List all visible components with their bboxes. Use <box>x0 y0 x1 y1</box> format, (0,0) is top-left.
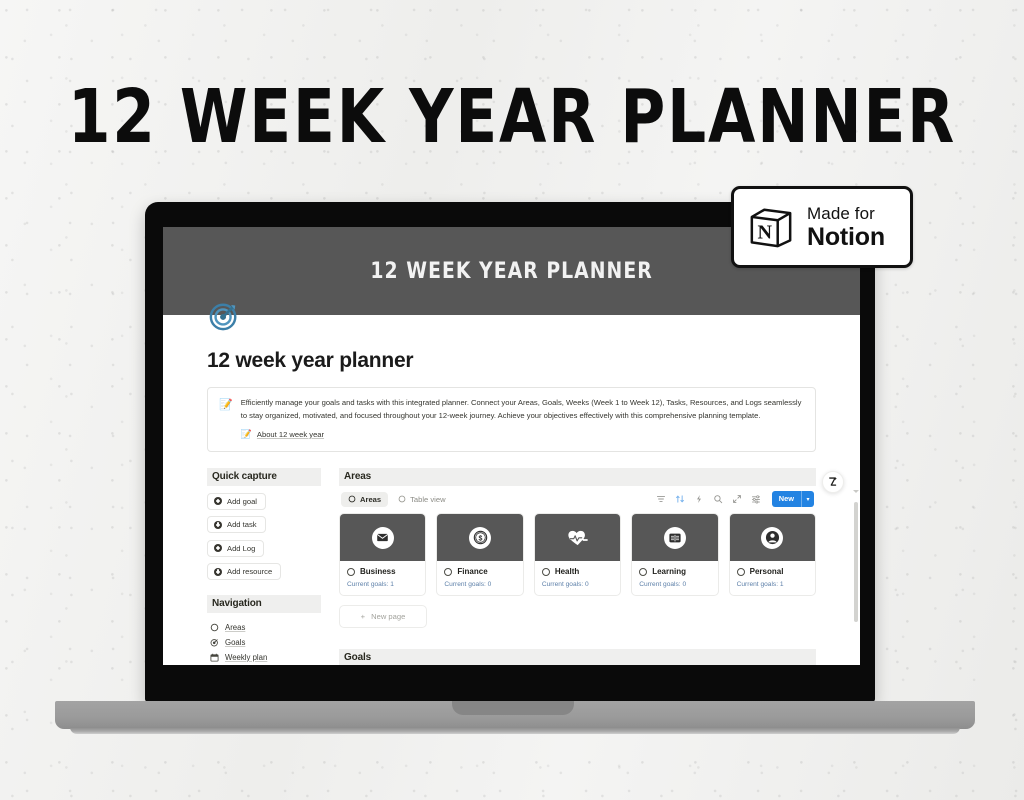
badge-notion-label: Notion <box>807 225 885 250</box>
plus-circle-icon <box>214 521 222 529</box>
scrollbar[interactable] <box>854 502 858 657</box>
badge-text: Made for Notion <box>807 205 885 250</box>
body-columns: Quick capture Add goal Add task <box>207 468 816 665</box>
areas-view-bar: Areas Table view <box>339 486 816 513</box>
coin-dollar-icon: $ <box>469 527 491 549</box>
scroll-caret-icon <box>853 490 859 493</box>
plus-circle-icon <box>214 497 222 505</box>
area-card-personal[interactable]: Personal Current goals: 1 <box>729 513 816 596</box>
card-meta: Current goals: 0 <box>444 581 515 588</box>
circle-icon <box>398 495 406 503</box>
notion-document: 12 week year planner 📝 Efficiently manag… <box>163 315 860 665</box>
card-cover <box>730 514 815 561</box>
plus-icon: + <box>361 612 365 621</box>
settings-icon[interactable] <box>751 494 761 504</box>
card-title: Finance <box>457 567 487 576</box>
circle-icon <box>348 495 356 503</box>
card-title-row: Health <box>542 567 613 576</box>
sidebar-item-label: Areas <box>225 623 245 632</box>
quick-capture-list: Add goal Add task Add Log <box>207 486 321 586</box>
intro-callout: 📝 Efficiently manage your goals and task… <box>207 387 816 452</box>
tab-areas[interactable]: Areas <box>341 492 388 507</box>
card-body: Personal Current goals: 1 <box>730 561 815 595</box>
card-title: Learning <box>652 567 686 576</box>
card-meta: Current goals: 0 <box>542 581 613 588</box>
areas-new-button[interactable]: New ▾ <box>772 491 814 507</box>
quick-capture-heading: Quick capture <box>207 468 321 486</box>
target-icon <box>210 638 219 647</box>
card-cover <box>535 514 620 561</box>
card-title: Health <box>555 567 579 576</box>
sort-icon[interactable] <box>675 494 685 504</box>
new-page-label: New page <box>371 612 405 621</box>
filter-icon[interactable] <box>656 494 666 504</box>
card-cover <box>632 514 717 561</box>
card-meta: Current goals: 0 <box>639 581 710 588</box>
area-card-finance[interactable]: $ Finance C <box>436 513 523 596</box>
plus-circle-icon <box>214 544 222 552</box>
plus-circle-icon <box>214 568 222 576</box>
poster-canvas: 12 WEEK YEAR PLANNER 12 WEEK YEAR PLANNE… <box>0 0 1024 800</box>
circle-icon <box>639 568 647 576</box>
book-icon <box>664 527 686 549</box>
areas-view-tabs: Areas Table view <box>341 492 646 507</box>
badge-made-for-label: Made for <box>807 205 885 222</box>
circle-icon <box>737 568 745 576</box>
card-meta: Current goals: 1 <box>347 581 418 588</box>
button-label: Add goal <box>227 497 257 506</box>
memo-icon: 📝 <box>241 429 252 440</box>
automation-icon[interactable] <box>694 494 704 504</box>
laptop-mockup: 12 WEEK YEAR PLANNER 12 week year planne… <box>0 0 1024 800</box>
laptop-base-notch <box>452 701 574 715</box>
circle-icon <box>347 568 355 576</box>
search-icon[interactable] <box>713 494 723 504</box>
card-body: Finance Current goals: 0 <box>437 561 522 595</box>
card-title: Business <box>360 567 396 576</box>
scrollbar-thumb[interactable] <box>854 502 858 622</box>
navigation-heading: Navigation <box>207 595 321 613</box>
area-card-health[interactable]: Health Current goals: 0 <box>534 513 621 596</box>
button-label: Add task <box>227 520 257 529</box>
tab-label: Areas <box>360 495 381 504</box>
right-column: Areas Areas <box>339 468 816 665</box>
button-label: Add Log <box>227 544 255 553</box>
calendar-icon <box>210 653 219 662</box>
add-resource-button[interactable]: Add resource <box>207 563 281 580</box>
expand-icon[interactable] <box>732 494 742 504</box>
notion-ai-sparkle-icon[interactable] <box>822 471 844 493</box>
cover-title: 12 WEEK YEAR PLANNER <box>370 259 652 284</box>
circle-icon <box>210 623 219 632</box>
about-12-week-year-link[interactable]: About 12 week year <box>257 430 324 439</box>
circle-icon <box>444 568 452 576</box>
heartbeat-icon <box>567 527 589 549</box>
card-title-row: Finance <box>444 567 515 576</box>
callout-sub-row[interactable]: 📝 About 12 week year <box>241 429 804 440</box>
envelope-icon <box>372 527 394 549</box>
add-task-button[interactable]: Add task <box>207 516 266 533</box>
document-title: 12 week year planner <box>207 349 816 373</box>
dart-target-icon[interactable] <box>209 301 239 331</box>
card-body: Health Current goals: 0 <box>535 561 620 595</box>
person-icon <box>761 527 783 549</box>
area-card-learning[interactable]: Learning Current goals: 0 <box>631 513 718 596</box>
card-title-row: Personal <box>737 567 808 576</box>
tab-label: Table view <box>410 495 445 504</box>
chevron-down-icon[interactable]: ▾ <box>801 491 814 507</box>
laptop-base-lip <box>70 727 960 734</box>
sidebar-item-label: Goals <box>225 638 245 647</box>
callout-text: Efficiently manage your goals and tasks … <box>241 397 804 422</box>
sidebar-item-goals[interactable]: Goals <box>207 635 321 650</box>
sidebar-item-label: Weekly plan <box>225 653 267 662</box>
goals-database: Goals Current goa <box>339 649 816 665</box>
card-title-row: Learning <box>639 567 710 576</box>
area-card-business[interactable]: Business Current goals: 1 <box>339 513 426 596</box>
areas-database: Areas Areas <box>339 468 816 639</box>
card-title-row: Business <box>347 567 418 576</box>
areas-toolbar: New ▾ <box>656 491 814 507</box>
circle-icon <box>542 568 550 576</box>
card-body: Business Current goals: 1 <box>340 561 425 595</box>
card-meta: Current goals: 1 <box>737 581 808 588</box>
new-page-button[interactable]: + New page <box>339 605 427 628</box>
add-log-button[interactable]: Add Log <box>207 540 264 557</box>
tab-table-view[interactable]: Table view <box>391 492 452 507</box>
svg-text:$: $ <box>478 536 482 543</box>
button-label: Add resource <box>227 567 272 576</box>
areas-card-grid: Business Current goals: 1 <box>339 513 816 596</box>
memo-icon: 📝 <box>219 397 233 440</box>
made-for-notion-badge: N Made for Notion <box>731 186 913 268</box>
add-goal-button[interactable]: Add goal <box>207 493 266 510</box>
svg-text:N: N <box>758 222 773 244</box>
sidebar-item-areas[interactable]: Areas <box>207 620 321 635</box>
left-column: Quick capture Add goal Add task <box>207 468 321 665</box>
sidebar-item-weekly-plan[interactable]: Weekly plan <box>207 650 321 665</box>
areas-database-title: Areas <box>339 468 816 486</box>
new-button-label: New <box>772 491 801 507</box>
card-cover <box>340 514 425 561</box>
goals-database-title: Goals <box>339 649 816 665</box>
laptop-screen: 12 WEEK YEAR PLANNER 12 week year planne… <box>163 227 860 665</box>
card-cover: $ <box>437 514 522 561</box>
card-title: Personal <box>750 567 784 576</box>
notion-cube-icon: N <box>748 204 794 250</box>
card-body: Learning Current goals: 0 <box>632 561 717 595</box>
navigation-list: Areas Goals <box>207 613 321 665</box>
